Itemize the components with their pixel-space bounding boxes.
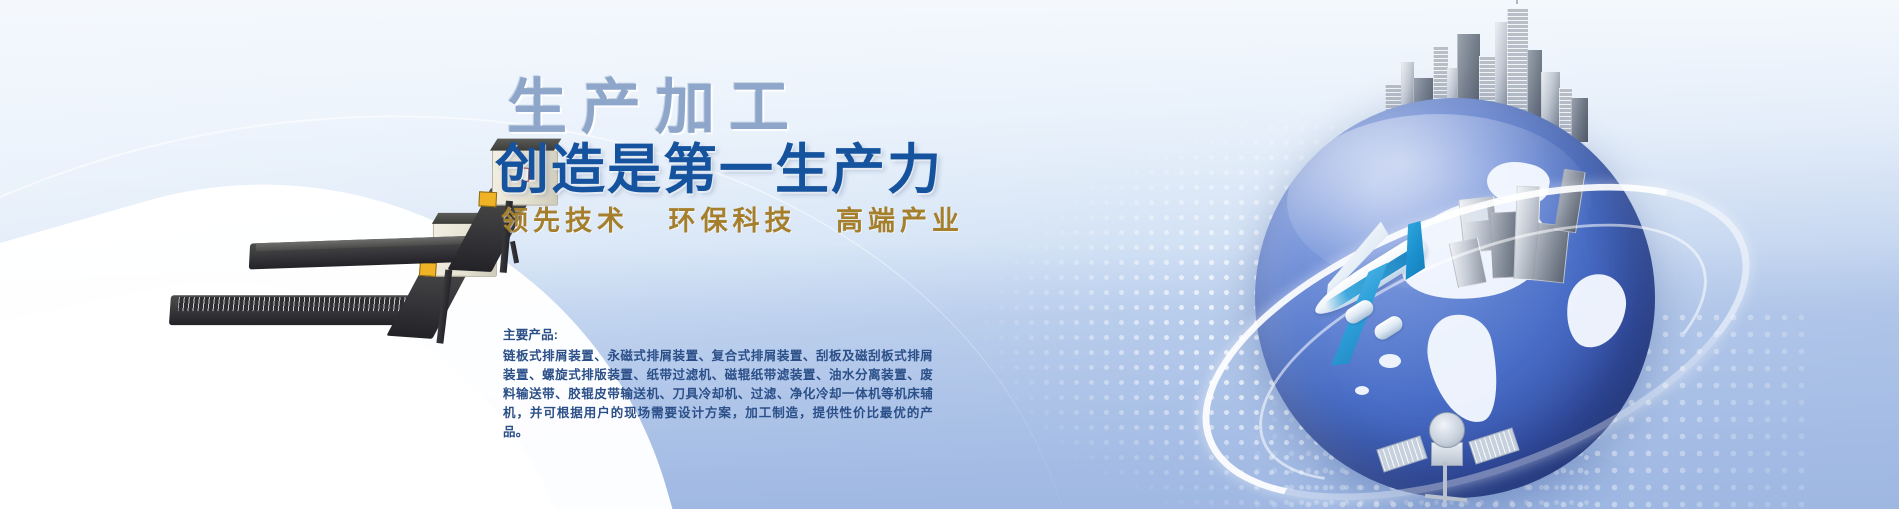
banner-headline: 生产加工: [507, 78, 1115, 138]
banner-tag-list: 领先技术 环保科技 高端产业: [501, 205, 1115, 237]
globe-buildings-graphic: [1451, 152, 1651, 342]
globe-graphic: [1255, 2, 1685, 509]
banner-slogan: 创造是第一生产力: [495, 142, 1115, 199]
airplane-engine: [1372, 313, 1406, 342]
airplane-graphic: [1262, 212, 1452, 374]
promo-banner: 生产加工 创造是第一生产力 领先技术 环保科技 高端产业 主要产品: 链板式排屑…: [0, 0, 1899, 509]
continent-shape: [1355, 386, 1369, 395]
banner-tag-1: 领先技术: [501, 206, 629, 236]
product-description-block: 主要产品: 链板式排屑装置、永磁式排屑装置、复合式排屑装置、刮板及磁刮板式排屑装…: [503, 326, 933, 442]
banner-tag-2: 环保科技: [669, 206, 797, 236]
product-description-body: 链板式排屑装置、永磁式排屑装置、复合式排屑装置、刮板及磁刮板式排屑装置、螺旋式排…: [503, 347, 933, 442]
banner-tag-3: 高端产业: [836, 206, 964, 236]
banner-text-block: 生产加工 创造是第一生产力 领先技术 环保科技 高端产业: [495, 78, 1115, 237]
satellite-graphic: [1375, 408, 1535, 509]
product-description-title: 主要产品:: [503, 326, 933, 345]
